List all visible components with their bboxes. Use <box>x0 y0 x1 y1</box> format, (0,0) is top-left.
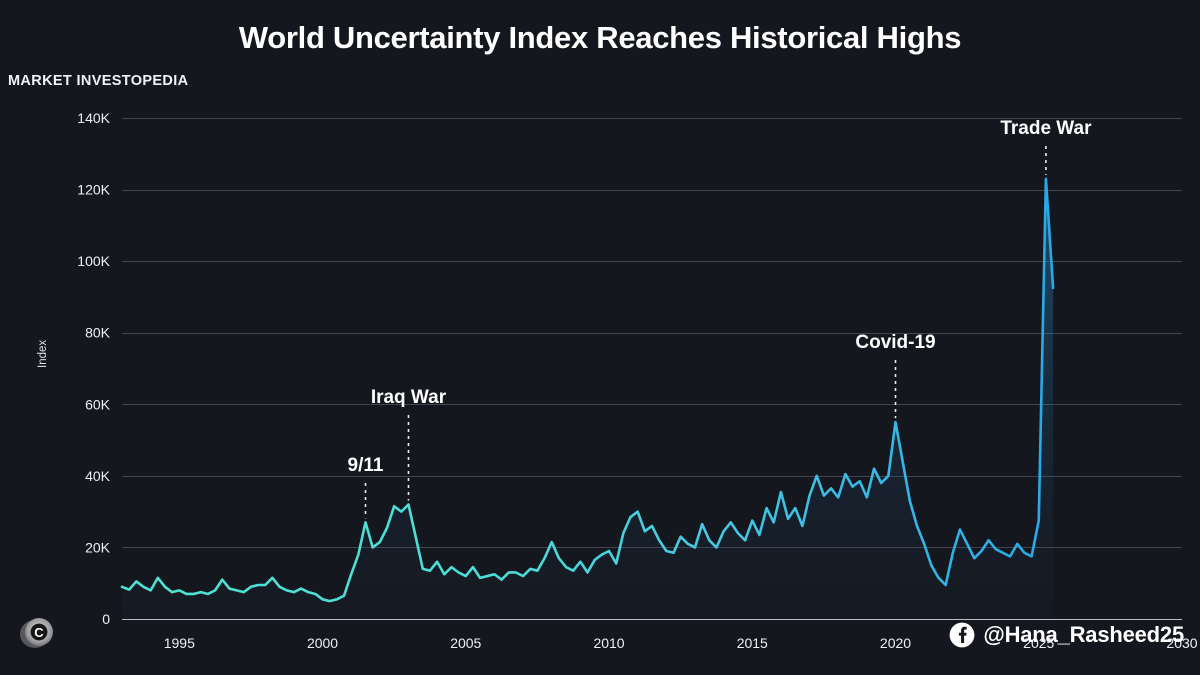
y-tick-label: 100K <box>77 253 110 269</box>
gridlines <box>122 119 1182 548</box>
x-tick-label: 2005 <box>450 635 481 651</box>
series-area-fill <box>122 179 1053 619</box>
annotation-label: Covid-19 <box>855 332 935 353</box>
y-tick-label: 0 <box>102 611 110 627</box>
y-tick-label: 140K <box>77 110 110 126</box>
x-tick-label: 1995 <box>164 635 195 651</box>
world-uncertainty-index-chart: 020K40K60K80K100K120K140K 19952000200520… <box>0 0 1200 675</box>
chart-canvas: 020K40K60K80K100K120K140K 19952000200520… <box>0 0 1200 675</box>
x-tick-label: 2010 <box>593 635 624 651</box>
y-tick-label: 20K <box>85 539 111 555</box>
y-tick-label: 60K <box>85 396 111 412</box>
facebook-icon <box>949 622 975 648</box>
y-axis-label: Index <box>37 340 49 368</box>
x-tick-label: 2015 <box>737 635 768 651</box>
y-tick-label: 40K <box>85 468 111 484</box>
y-tick-label: 120K <box>77 182 110 198</box>
social-handle: @Hana_Rasheed25 <box>949 622 1184 648</box>
copyright-badge-icon: C <box>18 613 58 653</box>
annotation-label: Iraq War <box>371 387 447 408</box>
annotation-label: Trade War <box>1000 118 1092 139</box>
svg-text:C: C <box>34 625 44 640</box>
handle-text: @Hana_Rasheed25 <box>983 622 1184 648</box>
y-tick-label: 80K <box>85 325 111 341</box>
x-tick-label: 2020 <box>880 635 911 651</box>
annotation-label: 9/11 <box>348 455 384 476</box>
x-tick-label: 2000 <box>307 635 338 651</box>
annotation-group: 9/11Iraq WarCovid-19Trade War <box>348 118 1093 518</box>
chart-page: World Uncertainty Index Reaches Historic… <box>0 0 1200 675</box>
y-axis-ticks: 020K40K60K80K100K120K140K <box>77 110 110 627</box>
